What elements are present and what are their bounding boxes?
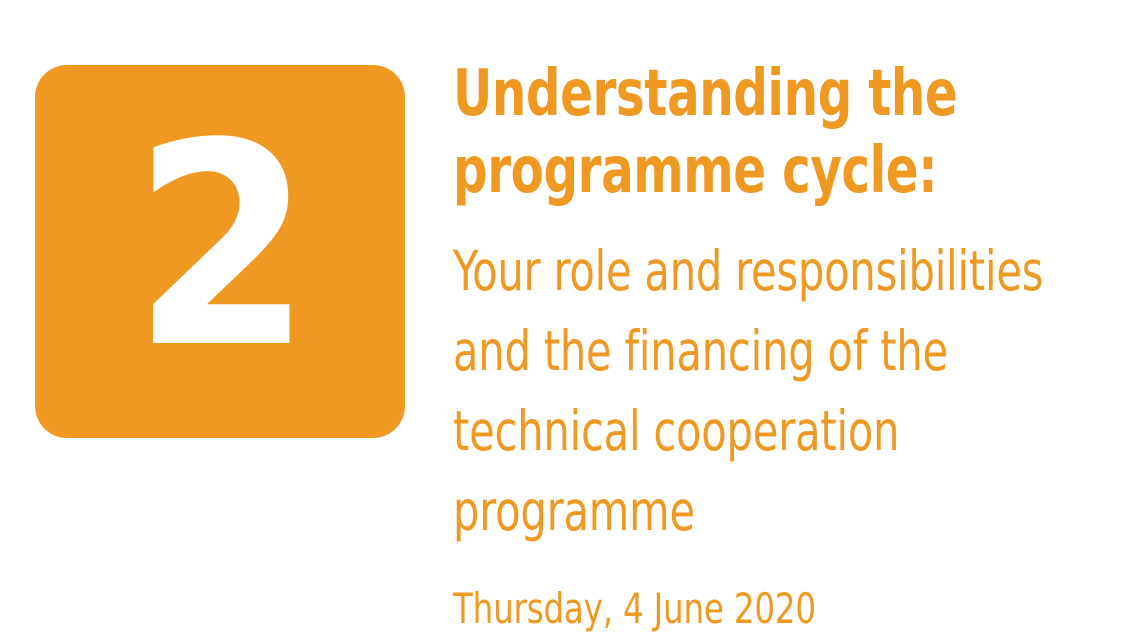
section-number-badge: 2 xyxy=(35,65,405,438)
slide-title: Understanding the programme cycle: xyxy=(453,56,1113,210)
slide-date: Thursday, 4 June 2020 xyxy=(453,585,1117,633)
presentation-title-slide: 2 Understanding the programme cycle: You… xyxy=(0,0,1140,640)
slide-subtitle: Your role and responsibilities and the f… xyxy=(453,231,1113,551)
title-text-column: Understanding the programme cycle: Your … xyxy=(453,56,1113,633)
section-number-label: 2 xyxy=(132,138,308,356)
